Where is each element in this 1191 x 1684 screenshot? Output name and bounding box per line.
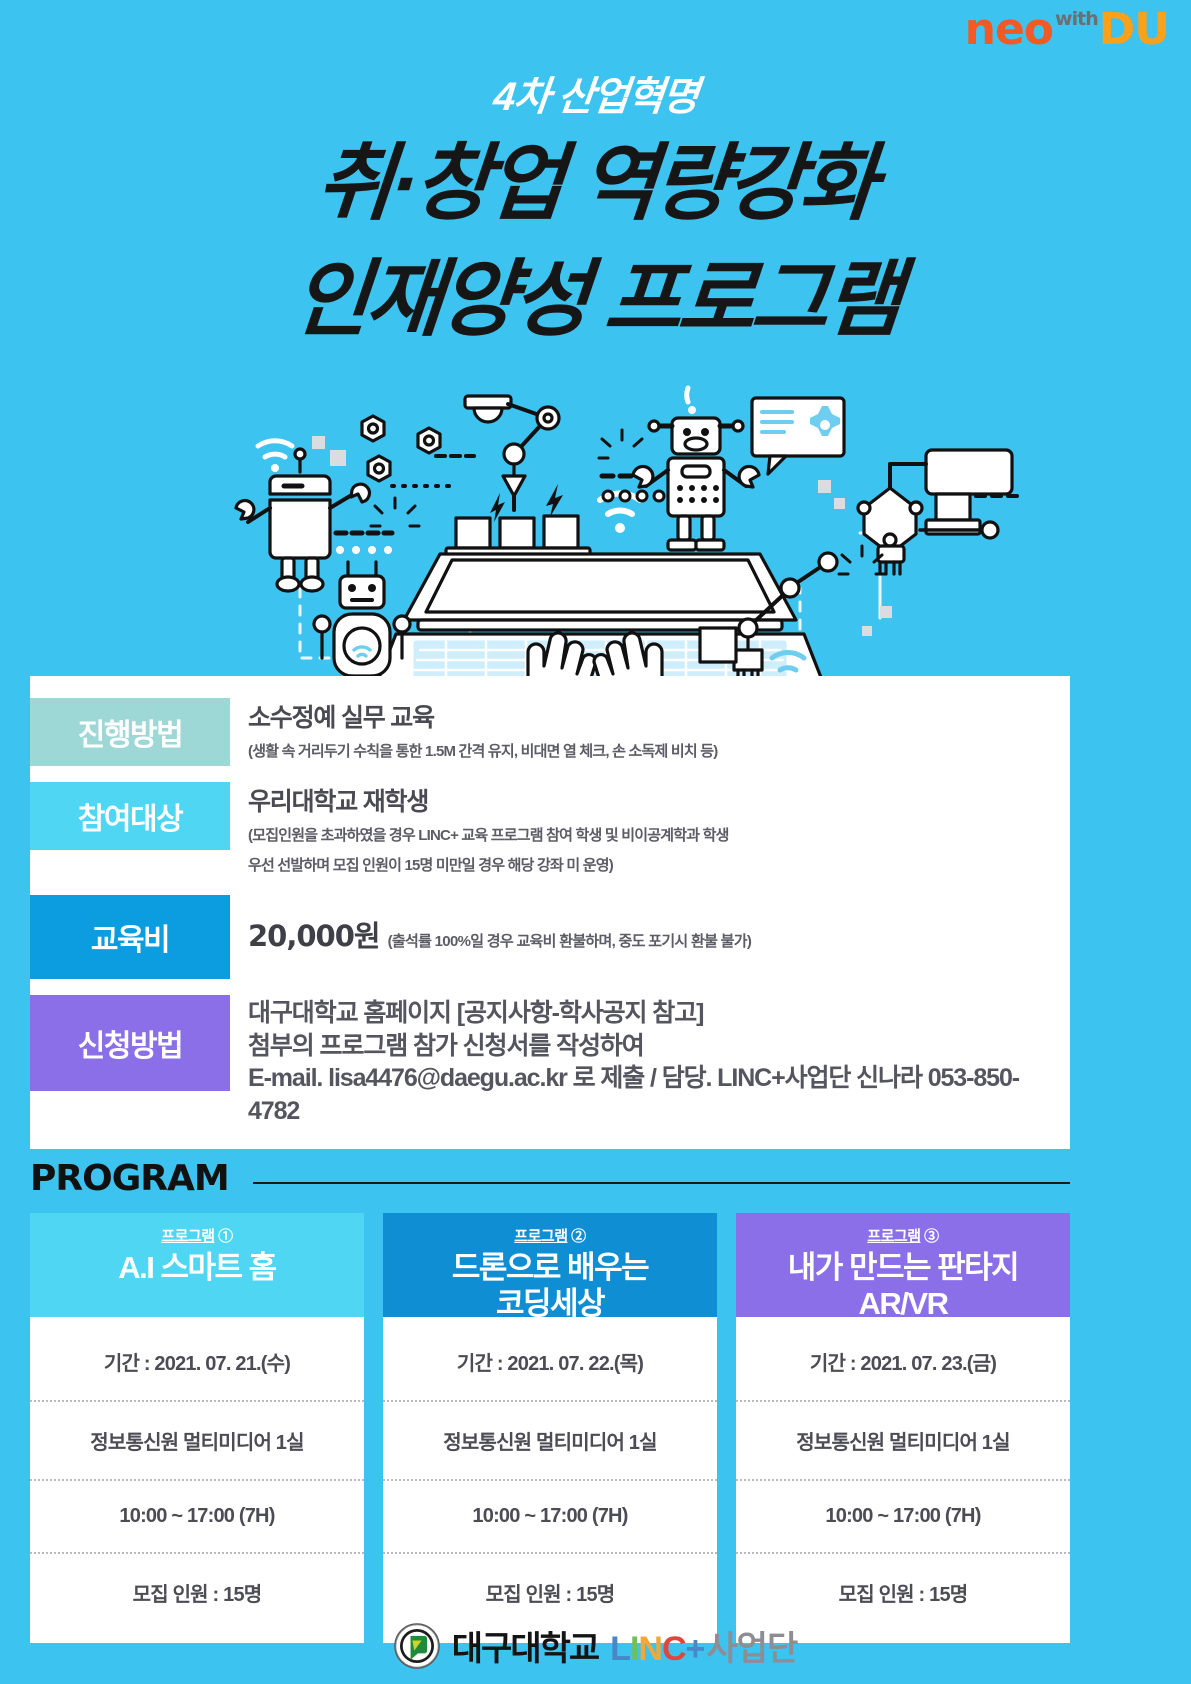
program-card-place: 정보통신원 멀티미디어 1실 — [736, 1400, 1070, 1479]
brand-with-text: with — [1055, 10, 1098, 29]
fee-note: (출석률 100%일 경우 교육비 환불하며, 중도 포기시 환불 불가) — [388, 930, 752, 951]
info-head-target: 우리대학교 재학생 — [248, 786, 729, 819]
info-body-target: 우리대학교 재학생 (모집인원을 초과하였을 경우 LINC+ 교육 프로그램 … — [230, 782, 729, 879]
program-card-list: 프로그램 ① A.I 스마트 홈 기간 : 2021. 07. 21.(수) 정… — [30, 1213, 1070, 1643]
program-card-time: 10:00 ~ 17:00 (7H) — [30, 1479, 364, 1552]
info-label-apply: 신청방법 — [30, 995, 230, 1091]
linc-letter-c: C — [662, 1630, 686, 1669]
linc-letter-i: I — [630, 1630, 638, 1669]
program-card-body: 기간 : 2021. 07. 22.(목) 정보통신원 멀티미디어 1실 10:… — [383, 1317, 717, 1643]
industry-4-illustration — [0, 358, 1191, 688]
program-card-header: 프로그램 ① A.I 스마트 홈 — [30, 1213, 364, 1317]
linc-plus-logo: L I N C + 사업단 — [610, 1621, 797, 1670]
program-card-title: A.I 스마트 홈 — [36, 1250, 358, 1286]
program-card[interactable]: 프로그램 ③ 내가 만드는 판타지 AR/VR 기간 : 2021. 07. 2… — [736, 1213, 1070, 1643]
program-card-number-label: 프로그램 — [161, 1228, 214, 1245]
footer: 대구대학교 L I N C + 사업단 — [0, 1621, 1191, 1670]
apply-line-3-email[interactable]: E-mail. lisa4476@daegu.ac.kr 로 제출 / 담당. … — [248, 1062, 1070, 1127]
brand-neo-text: neo — [965, 8, 1053, 52]
neo-with-du-logo: neo with DU — [965, 8, 1169, 52]
apply-line-2: 첨부의 프로그램 참가 신청서를 작성하여 — [248, 1030, 1070, 1063]
info-sub-method-1: (생활 속 거리두기 수칙을 통한 1.5M 간격 유지, 비대면 열 체크, … — [248, 739, 717, 765]
program-card-title-line-1: 내가 만드는 판타지 — [742, 1250, 1064, 1286]
headline-block: 4차 산업혁명 취·창업 역량강화 인재양성 프로그램 — [0, 64, 1191, 346]
program-card-capacity: 모집 인원 : 15명 — [736, 1552, 1070, 1631]
info-row: 진행방법 소수정예 실무 교육 (생활 속 거리두기 수칙을 통한 1.5M 간… — [30, 698, 1070, 766]
program-card-capacity: 모집 인원 : 15명 — [30, 1552, 364, 1631]
program-card-body: 기간 : 2021. 07. 21.(수) 정보통신원 멀티미디어 1실 10:… — [30, 1317, 364, 1643]
info-row: 신청방법 대구대학교 홈페이지 [공지사항-학사공지 참고] 첨부의 프로그램 … — [30, 995, 1070, 1127]
linc-subtitle: 사업단 — [706, 1621, 797, 1670]
program-card[interactable]: 프로그램 ② 드론으로 배우는 코딩세상 기간 : 2021. 07. 22.(… — [383, 1213, 717, 1643]
brand-du-text: DU — [1099, 8, 1169, 52]
program-card[interactable]: 프로그램 ① A.I 스마트 홈 기간 : 2021. 07. 21.(수) 정… — [30, 1213, 364, 1643]
program-heading-rule — [253, 1182, 1070, 1184]
program-card-title-line-2: AR/VR — [742, 1286, 1064, 1322]
info-row: 참여대상 우리대학교 재학생 (모집인원을 초과하였을 경우 LINC+ 교육 … — [30, 782, 1070, 879]
linc-letter-l: L — [610, 1630, 630, 1669]
program-card-number: 프로그램 ② — [389, 1225, 711, 1246]
info-label-fee: 교육비 — [30, 895, 230, 979]
program-card-capacity: 모집 인원 : 15명 — [383, 1552, 717, 1631]
program-card-title: 드론으로 배우는 코딩세상 — [389, 1250, 711, 1322]
linc-plus-sign: + — [686, 1630, 705, 1669]
headline-line-1: 취·창업 역량강화 — [313, 136, 878, 230]
program-card-time: 10:00 ~ 17:00 (7H) — [736, 1479, 1070, 1552]
info-body-method: 소수정예 실무 교육 (생활 속 거리두기 수칙을 통한 1.5M 간격 유지,… — [230, 698, 717, 765]
poster-root: neo with DU 4차 산업혁명 취·창업 역량강화 인재양성 프로그램 — [0, 0, 1191, 1684]
info-sub-target-2: 우선 선발하며 모집 인원이 15명 미만일 경우 해당 강좌 미 운영) — [248, 853, 729, 879]
program-card-title-line-1: 드론으로 배우는 — [389, 1250, 711, 1286]
program-section-heading: PROGRAM — [30, 1158, 1070, 1199]
daegu-university-seal-icon — [394, 1623, 440, 1669]
info-body-fee: 20,000원 (출석률 100%일 경우 교육비 환불하며, 중도 포기시 환… — [230, 895, 751, 955]
program-card-number: 프로그램 ① — [36, 1225, 358, 1246]
program-card-title-line-2: 코딩세상 — [389, 1286, 711, 1322]
program-card-place: 정보통신원 멀티미디어 1실 — [30, 1400, 364, 1479]
program-card-period: 기간 : 2021. 07. 23.(금) — [736, 1323, 1070, 1400]
info-body-apply: 대구대학교 홈페이지 [공지사항-학사공지 참고] 첨부의 프로그램 참가 신청… — [230, 995, 1070, 1127]
fee-amount: 20,000원 — [248, 913, 380, 955]
program-card-number-mark: ① — [218, 1228, 233, 1245]
info-head-method: 소수정예 실무 교육 — [248, 702, 717, 735]
linc-letter-n: N — [638, 1630, 662, 1669]
program-card-number-label: 프로그램 — [514, 1228, 567, 1245]
info-label-method: 진행방법 — [30, 698, 230, 766]
program-card-number-label: 프로그램 — [867, 1228, 920, 1245]
program-card-header: 프로그램 ② 드론으로 배우는 코딩세상 — [383, 1213, 717, 1317]
program-card-period: 기간 : 2021. 07. 22.(목) — [383, 1323, 717, 1400]
program-card-place: 정보통신원 멀티미디어 1실 — [383, 1400, 717, 1479]
program-card-period: 기간 : 2021. 07. 21.(수) — [30, 1323, 364, 1400]
apply-line-1: 대구대학교 홈페이지 [공지사항-학사공지 참고] — [248, 997, 1070, 1030]
program-heading-text: PROGRAM — [30, 1158, 229, 1199]
program-card-title: 내가 만드는 판타지 AR/VR — [742, 1250, 1064, 1322]
info-sub-target-1: (모집인원을 초과하였을 경우 LINC+ 교육 프로그램 참여 학생 및 비이… — [248, 823, 729, 849]
headline-kicker: 4차 산업혁명 — [491, 64, 700, 122]
program-card-number-mark: ③ — [924, 1228, 939, 1245]
program-card-header: 프로그램 ③ 내가 만드는 판타지 AR/VR — [736, 1213, 1070, 1317]
footer-university-name: 대구대학교 — [452, 1621, 598, 1670]
program-card-time: 10:00 ~ 17:00 (7H) — [383, 1479, 717, 1552]
program-card-number-mark: ② — [571, 1228, 586, 1245]
info-row: 교육비 20,000원 (출석률 100%일 경우 교육비 환불하며, 중도 포… — [30, 895, 1070, 979]
info-panel: 진행방법 소수정예 실무 교육 (생활 속 거리두기 수칙을 통한 1.5M 간… — [30, 676, 1070, 1149]
program-card-number: 프로그램 ③ — [742, 1225, 1064, 1246]
headline-line-2: 인재양성 프로그램 — [289, 252, 903, 346]
program-card-body: 기간 : 2021. 07. 23.(금) 정보통신원 멀티미디어 1실 10:… — [736, 1317, 1070, 1643]
info-label-target: 참여대상 — [30, 782, 230, 850]
